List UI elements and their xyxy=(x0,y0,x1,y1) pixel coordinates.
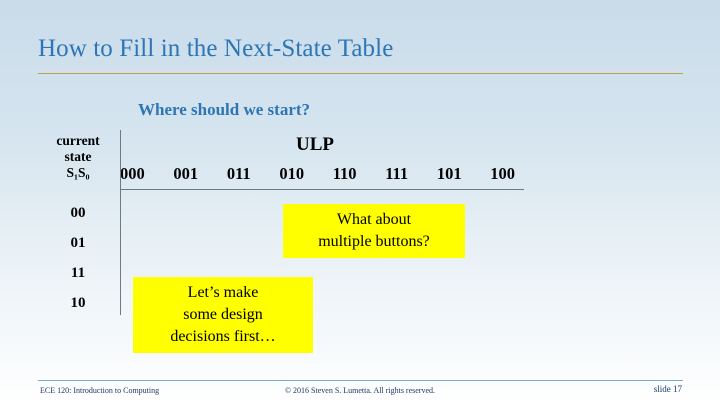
column-header: 100 xyxy=(490,164,515,184)
header-state: state xyxy=(36,149,120,165)
footer-divider xyxy=(38,380,683,381)
footer-copyright: © 2016 Steven S. Lumetta. All rights res… xyxy=(0,386,720,395)
slide-number: slide 17 xyxy=(654,384,682,394)
table-row: 00 xyxy=(36,198,120,228)
table-column-headers: 000 001 011 010 110 111 101 100 xyxy=(120,164,515,184)
column-header: 010 xyxy=(279,164,304,184)
column-header: 110 xyxy=(333,164,357,184)
table-row-labels: 00 01 11 10 xyxy=(36,198,120,318)
title-divider xyxy=(38,73,683,74)
callout-design-decisions: Let’s make some design decisions first… xyxy=(133,277,313,353)
column-header: 101 xyxy=(437,164,462,184)
header-current: current xyxy=(36,133,120,149)
table-row: 11 xyxy=(36,258,120,288)
table-row: 01 xyxy=(36,228,120,258)
input-group-label: ULP xyxy=(120,134,510,156)
page-title: How to Fill in the Next-State Table xyxy=(38,35,393,63)
header-state-vars: S₁S₀ xyxy=(36,165,120,181)
callout-line: Let’s make xyxy=(143,282,303,304)
column-header: 001 xyxy=(173,164,198,184)
table-row: 10 xyxy=(36,288,120,318)
subtitle: Where should we start? xyxy=(138,100,310,120)
callout-line: decisions first… xyxy=(143,326,303,348)
slide: How to Fill in the Next-State Table Wher… xyxy=(0,0,720,405)
callout-line: multiple buttons? xyxy=(293,231,455,253)
column-header: 111 xyxy=(385,164,408,184)
callout-multiple-buttons: What about multiple buttons? xyxy=(283,204,465,258)
callout-line: some design xyxy=(143,304,303,326)
callout-line: What about xyxy=(293,209,455,231)
table-row-header-label: current state S₁S₀ xyxy=(36,133,120,181)
table-vertical-divider xyxy=(120,130,121,315)
column-header: 011 xyxy=(227,164,251,184)
column-header: 000 xyxy=(120,164,145,184)
table-horizontal-divider xyxy=(120,189,524,190)
